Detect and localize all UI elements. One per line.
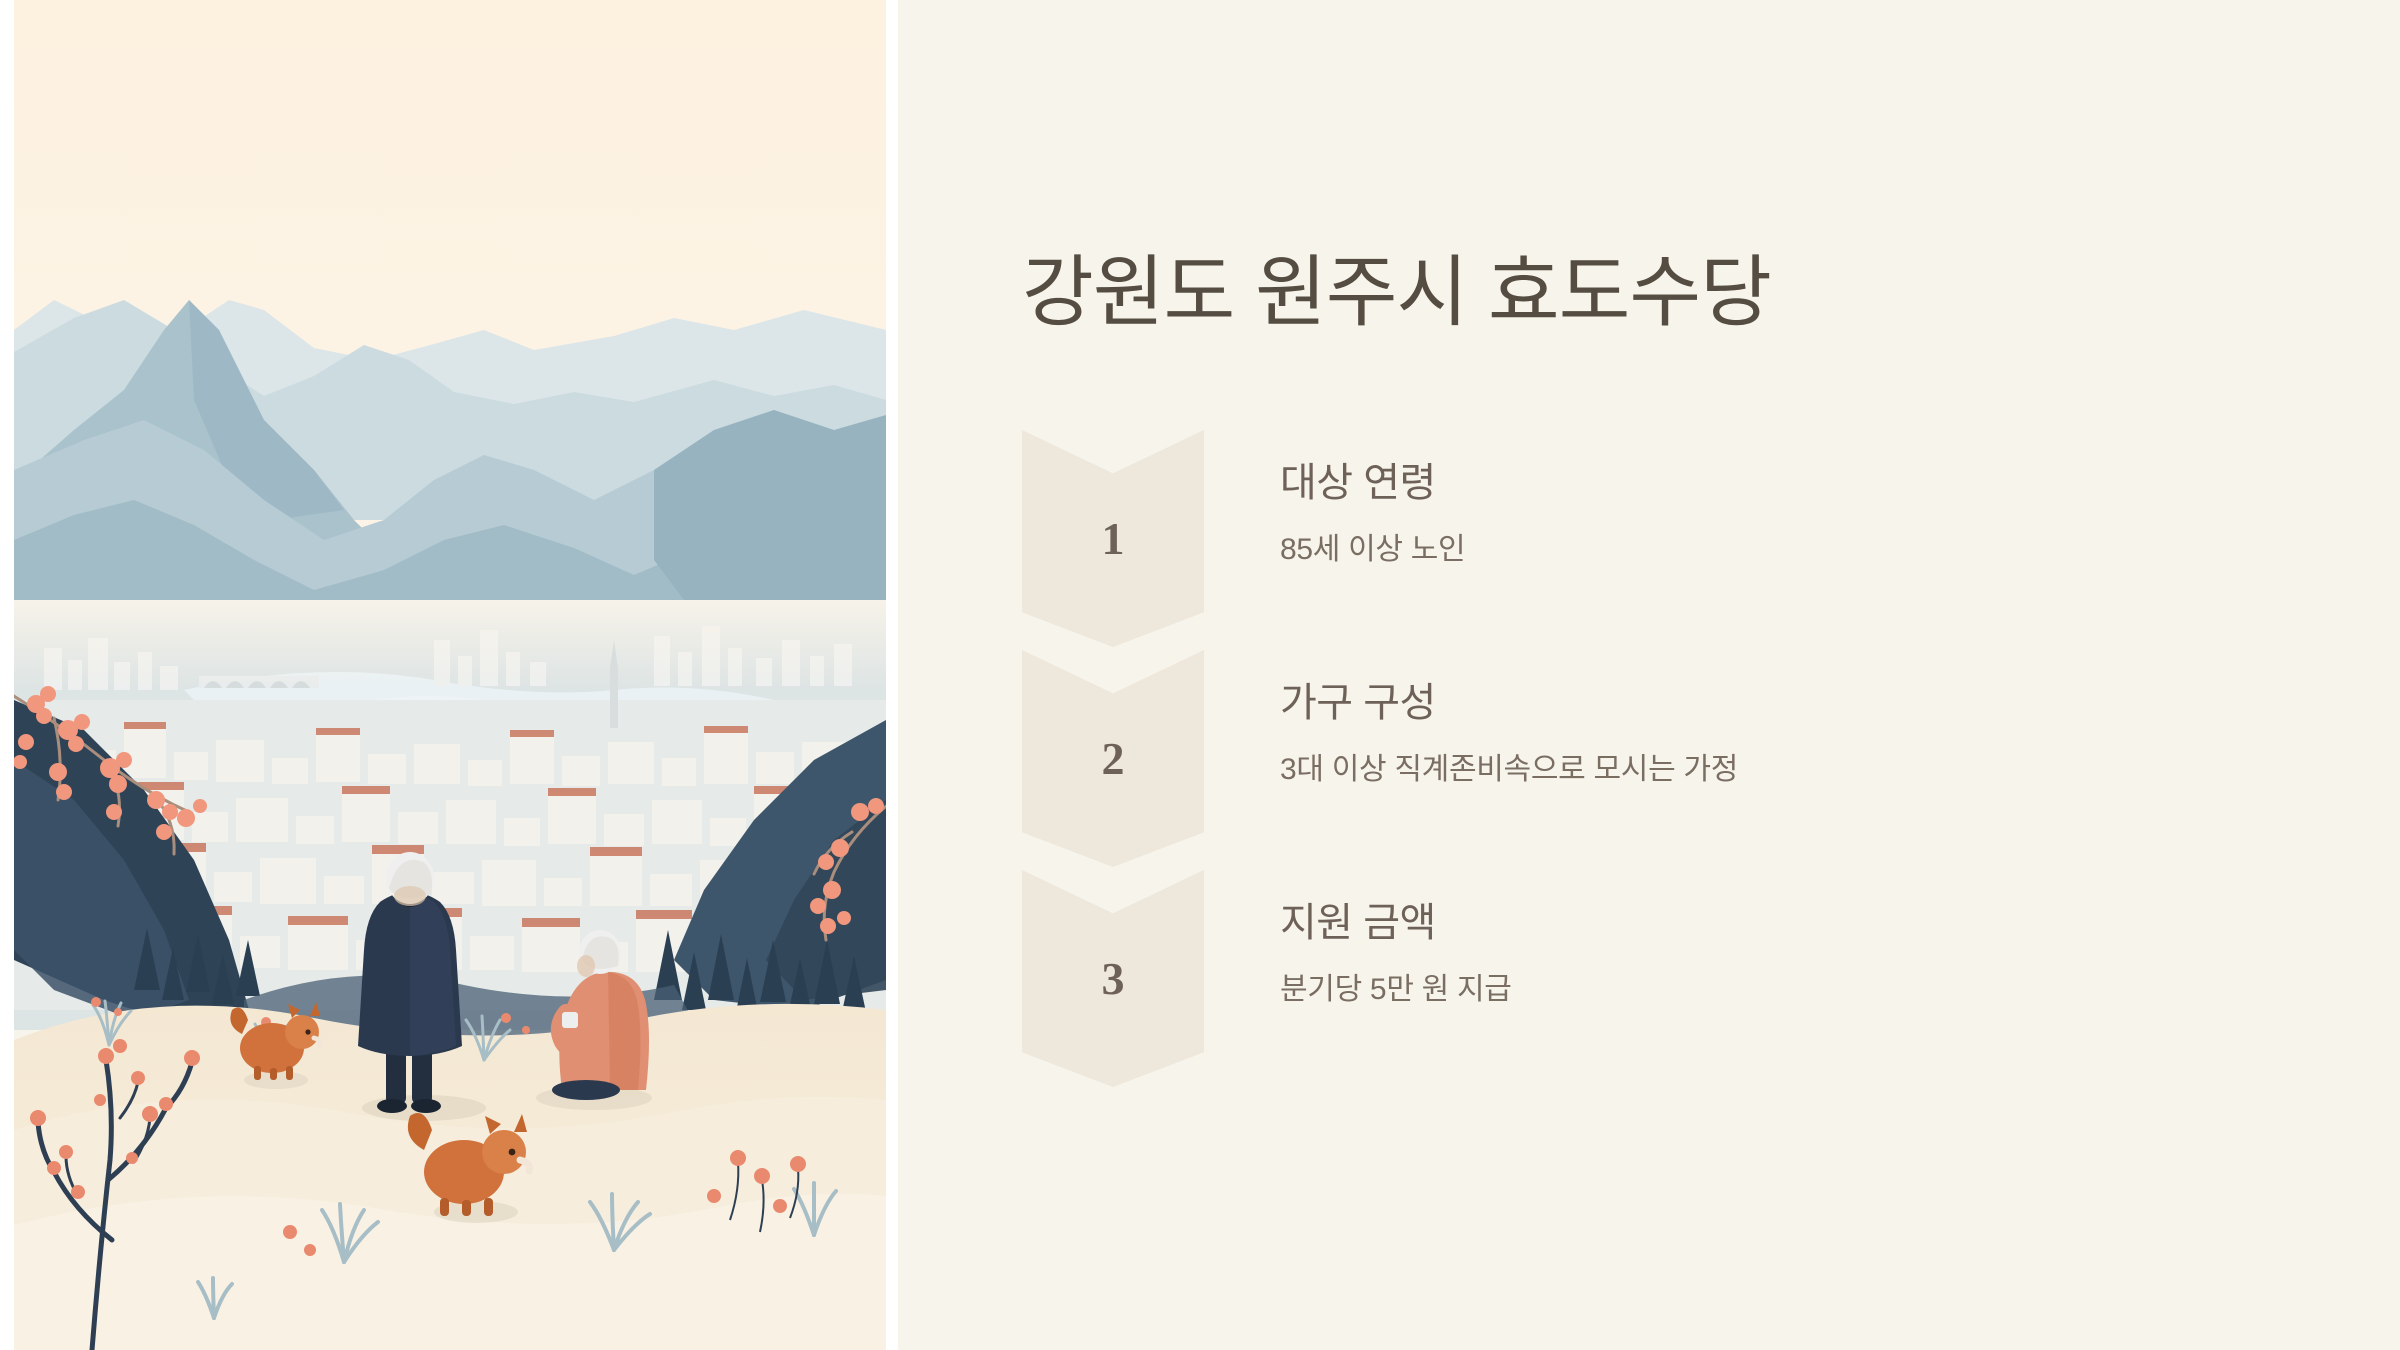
step-badge-3: 3 (1022, 870, 1204, 1087)
step-description: 분기당 5만 원 지급 (1280, 970, 2320, 1011)
step-description: 85세 이상 노인 (1280, 530, 2320, 571)
woman-cup (562, 1012, 578, 1028)
scenic-illustration (14, 0, 886, 1350)
valley-haze (14, 600, 886, 690)
dog-upper-head (285, 1015, 319, 1049)
tower (610, 668, 618, 728)
step-number: 2 (1102, 736, 1125, 782)
slide-root: 강원도 원주시 효도수당 1 대상 연령 85세 이상 노인 2 가구 구성 3… (0, 0, 2400, 1350)
step-text-block: 지원 금액 분기당 5만 원 지급 (1280, 898, 2320, 1011)
page-title: 강원도 원주시 효도수당 (1022, 246, 2322, 340)
step-badge-1: 1 (1022, 430, 1204, 647)
illustration-panel (14, 0, 886, 1350)
step-text-block: 가구 구성 3대 이상 직계존비속으로 모시는 가정 (1280, 678, 2320, 791)
step-title: 지원 금액 (1280, 898, 2320, 948)
step-item: 1 대상 연령 85세 이상 노인 (1022, 430, 2342, 650)
step-item: 3 지원 금액 분기당 5만 원 지급 (1022, 870, 2342, 1090)
step-title: 대상 연령 (1280, 458, 2320, 508)
step-number: 3 (1102, 956, 1125, 1002)
step-description: 3대 이상 직계존비속으로 모시는 가정 (1280, 750, 2320, 791)
step-title: 가구 구성 (1280, 678, 2320, 728)
step-number: 1 (1102, 516, 1125, 562)
step-text-block: 대상 연령 85세 이상 노인 (1280, 458, 2320, 571)
steps-list: 1 대상 연령 85세 이상 노인 2 가구 구성 3대 이상 직계존비속으로 … (1022, 430, 2342, 1090)
step-badge-2: 2 (1022, 650, 1204, 867)
dog-lower-head (482, 1130, 526, 1174)
step-item: 2 가구 구성 3대 이상 직계존비속으로 모시는 가정 (1022, 650, 2342, 870)
